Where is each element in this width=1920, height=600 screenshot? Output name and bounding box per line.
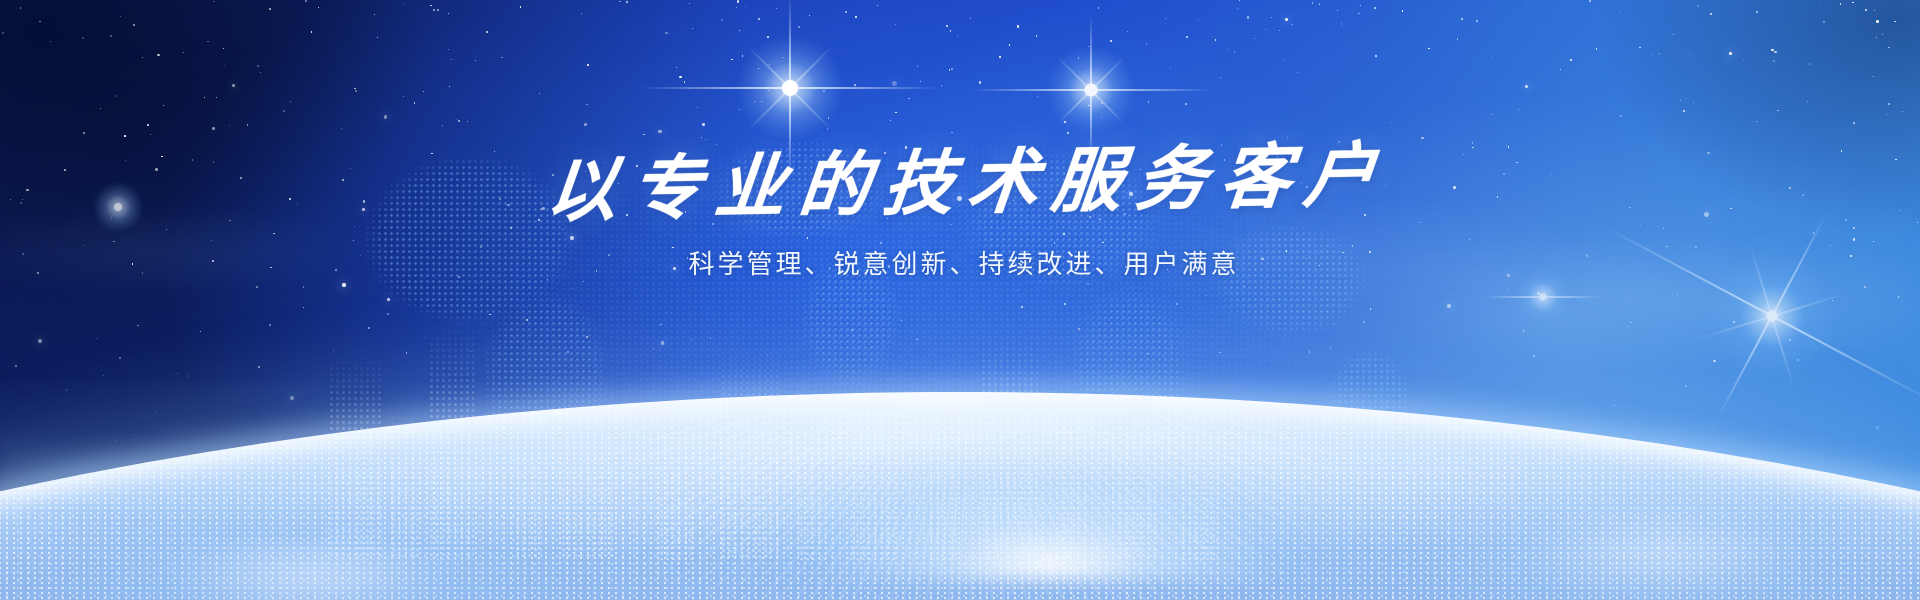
- data-column: [1182, 414, 1216, 560]
- data-column: [1060, 428, 1088, 560]
- hero-banner: 以专业的技术服务客户 科学管理、锐意创新、持续改进、用户满意: [0, 0, 1920, 600]
- data-column: [1112, 368, 1160, 560]
- data-column: [516, 440, 542, 560]
- data-column: [660, 420, 694, 560]
- data-column: [330, 355, 384, 560]
- data-column: [562, 380, 614, 560]
- horizon-glow-right: [1380, 380, 1920, 600]
- data-column: [430, 325, 474, 560]
- data-columns: [330, 300, 1230, 560]
- data-column: [850, 390, 896, 560]
- data-column: [930, 432, 960, 560]
- data-column: [392, 410, 422, 560]
- data-column: [800, 450, 826, 560]
- data-column: [722, 345, 780, 560]
- data-column: [982, 335, 1038, 560]
